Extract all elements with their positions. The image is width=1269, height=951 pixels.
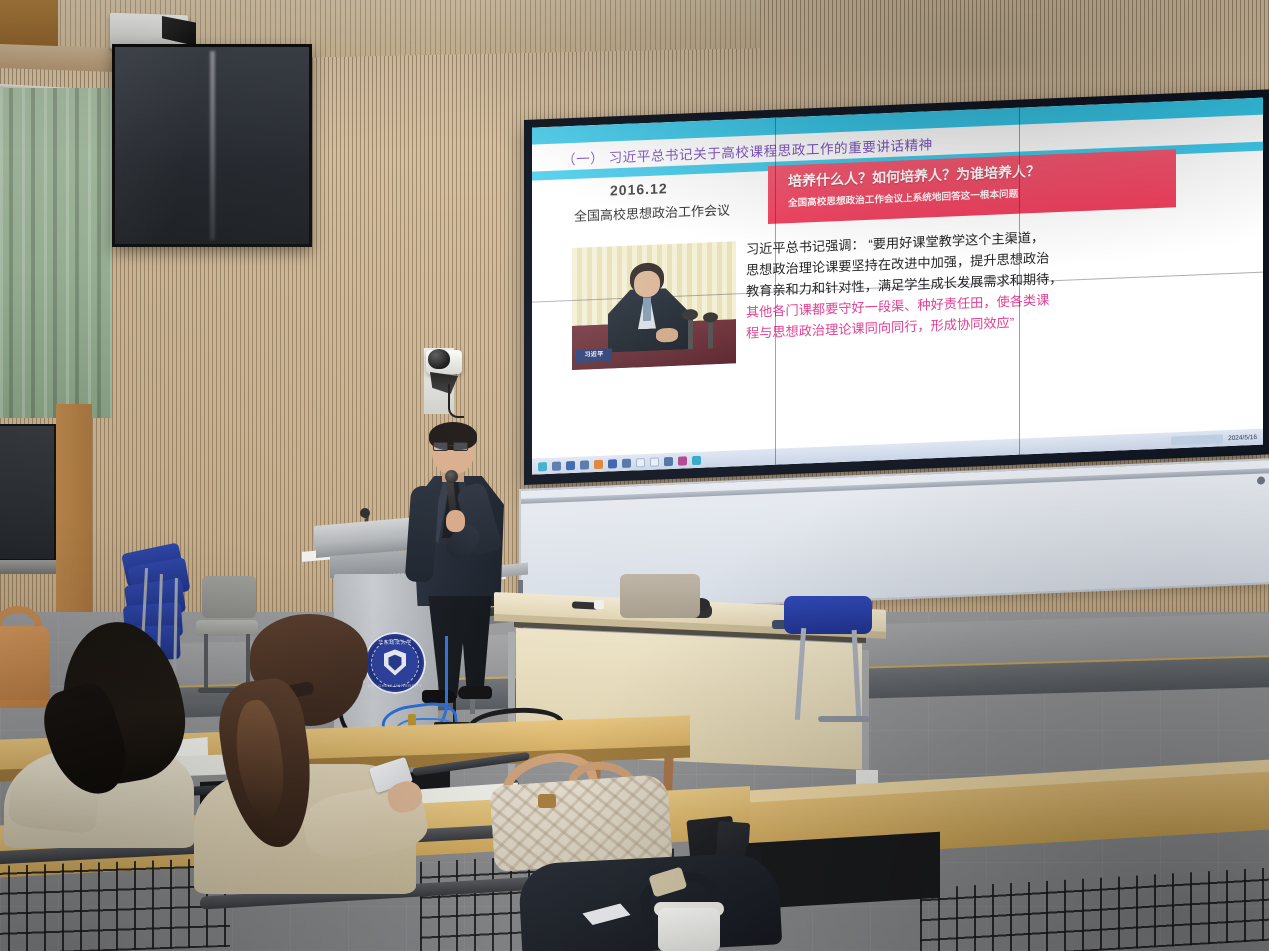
cloud-icon[interactable] xyxy=(692,455,701,464)
excel-icon[interactable] xyxy=(622,458,631,467)
chair-back xyxy=(620,574,700,618)
chair-back xyxy=(784,596,872,634)
chat-icon[interactable] xyxy=(650,457,659,466)
chair-leg xyxy=(795,628,806,720)
wood-column xyxy=(56,404,92,644)
podium-microphone-head xyxy=(360,508,370,518)
slide-section-number: （一） xyxy=(562,151,604,168)
chair-blue xyxy=(784,596,876,726)
table-mic-base xyxy=(594,600,604,609)
glasses-bridge xyxy=(448,445,453,446)
camera-cable xyxy=(448,384,464,418)
glasses-lens-right xyxy=(453,442,468,451)
start-icon[interactable] xyxy=(538,462,547,471)
chair-back xyxy=(202,576,256,618)
handbag-clasp-icon xyxy=(538,794,556,808)
wall-display-left xyxy=(112,44,312,247)
handbag xyxy=(492,756,670,866)
chair-leg xyxy=(852,630,862,720)
microphone-head-icon xyxy=(445,470,458,483)
presentation-slide: （一） 习近平总书记关于高校课程思政工作的重要讲话精神 2016.12 全国高校… xyxy=(532,98,1263,475)
wall-display-lower-left xyxy=(0,424,56,561)
ppt-icon[interactable] xyxy=(594,459,603,468)
chair-beige xyxy=(620,574,700,632)
photo-microphone-2 xyxy=(708,318,713,348)
slide-meeting-name: 全国高校思想政治工作会议 xyxy=(574,200,730,225)
display-control-strip xyxy=(0,560,60,574)
photo-person-hand xyxy=(656,328,678,343)
glasses-lens-left xyxy=(433,442,448,451)
window-curtain xyxy=(0,88,112,418)
camera-lens-icon xyxy=(428,349,450,369)
media-icon[interactable] xyxy=(636,458,645,467)
system-tray[interactable] xyxy=(1171,434,1223,445)
slide-date: 2016.12 xyxy=(610,180,668,198)
slide-speaker-photo: 习近平 xyxy=(572,241,736,370)
backpack xyxy=(518,851,783,951)
videowall-screen[interactable]: （一） 习近平总书记关于高校课程思政工作的重要讲话精神 2016.12 全国高校… xyxy=(532,98,1263,475)
settings-icon[interactable] xyxy=(664,456,673,465)
photo-person-face xyxy=(634,270,660,297)
chair-foot-rail xyxy=(818,716,870,722)
led-video-wall[interactable]: （一） 习近平总书记关于高校课程思政工作的重要讲话精神 2016.12 全国高校… xyxy=(524,89,1269,485)
presenter-hand xyxy=(446,510,465,532)
audience-member-front-center xyxy=(176,614,426,894)
photo-person-tie xyxy=(643,295,651,321)
presenter-shoe-right xyxy=(458,686,492,699)
lecture-hall-photo: （一） 习近平总书记关于高校课程思政工作的重要讲话精神 2016.12 全国高校… xyxy=(0,0,1269,951)
explorer-icon[interactable] xyxy=(552,461,561,470)
display-panel xyxy=(0,426,54,559)
screen-glare xyxy=(210,51,215,240)
backpack-tag xyxy=(582,903,631,925)
mail-icon[interactable] xyxy=(678,456,687,465)
word-icon[interactable] xyxy=(608,459,617,468)
folder-icon[interactable] xyxy=(566,460,575,469)
photo-nameplate: 习近平 xyxy=(576,348,612,362)
taskbar-clock[interactable]: 2024/5/16 xyxy=(1228,433,1257,441)
glasses-icon xyxy=(433,442,473,451)
whiteboard-knob xyxy=(1257,476,1265,484)
audience-member-front-left xyxy=(22,622,192,822)
paper-cup xyxy=(658,908,720,951)
browser-icon[interactable] xyxy=(580,460,589,469)
